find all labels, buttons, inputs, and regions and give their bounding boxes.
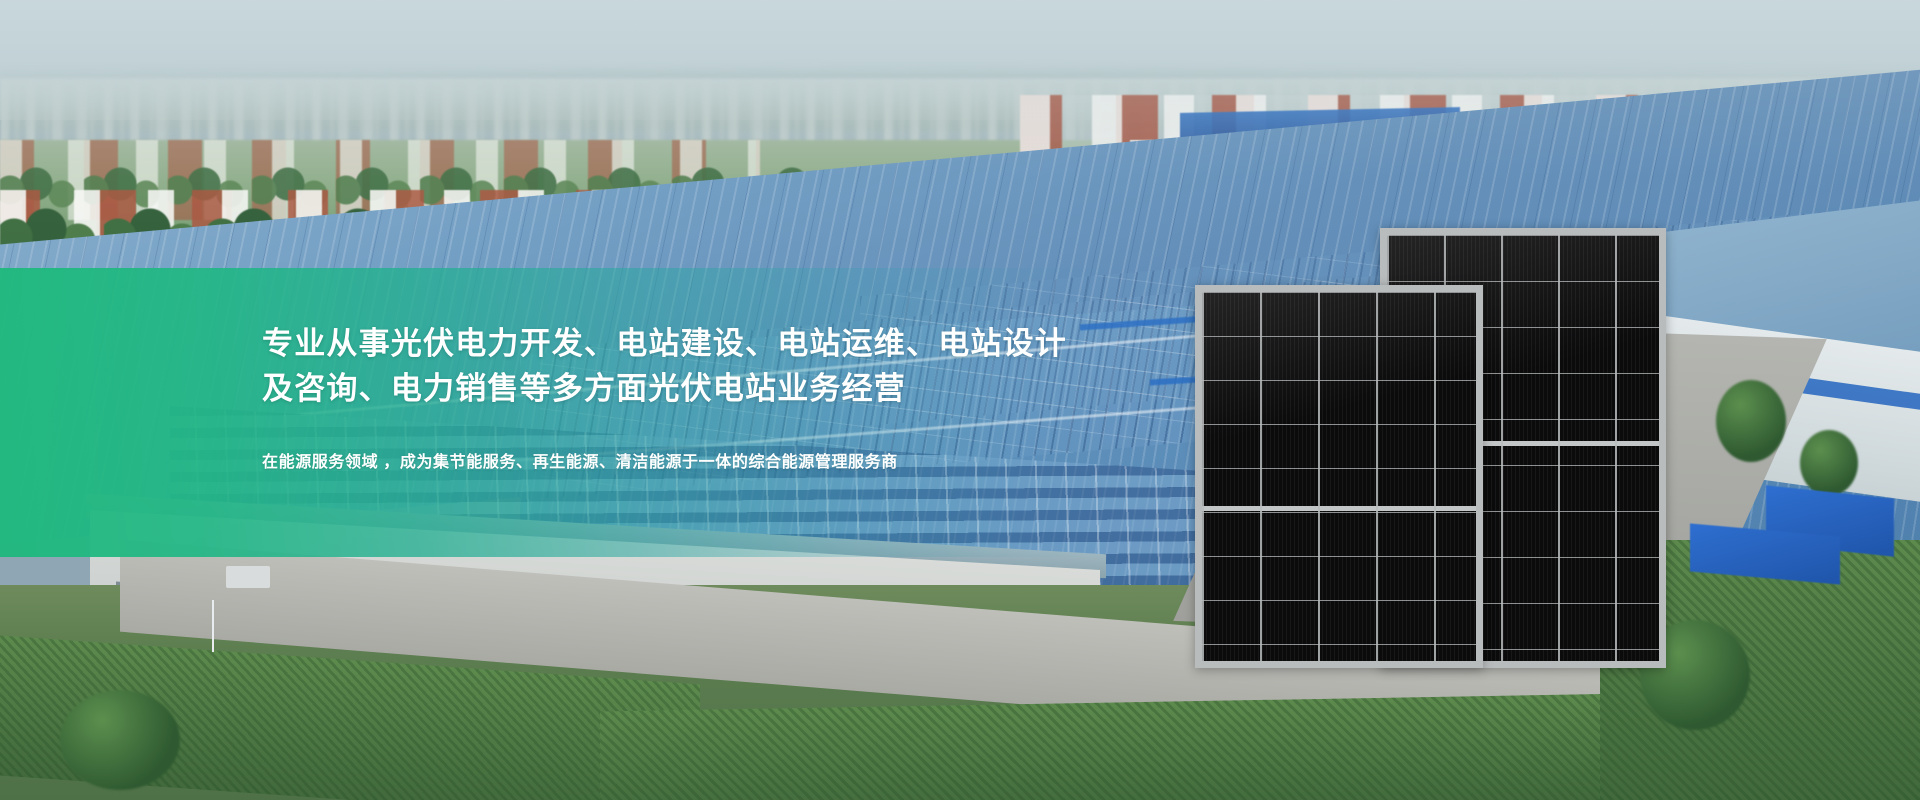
green-text-overlay: 专业从事光伏电力开发、电站建设、电站运维、电站设计 及咨询、电力销售等多方面光伏… [0,268,1112,557]
street-lamp-3 [212,600,214,652]
solar-module-front-glass [1202,292,1476,661]
overlay-text-block: 专业从事光伏电力开发、电站建设、电站运维、电站设计 及咨询、电力销售等多方面光伏… [262,268,1102,557]
hero-banner: 专业从事光伏电力开发、电站建设、电站运维、电站设计 及咨询、电力销售等多方面光伏… [0,0,1920,800]
banner-subline: 在能源服务领域 ，成为集节能服务、再生能源、清洁能源于一体的综合能源管理服务商 [262,450,1092,476]
solar-module-front-image [1195,285,1483,668]
solar-module-front-busbar [1202,506,1476,511]
solar-module-front-sheen [1202,292,1476,661]
vehicle-white-van [226,566,270,588]
tree-right-2 [1800,430,1858,496]
tree-right-1 [1716,380,1786,462]
tree-bottom-2 [60,690,180,790]
banner-headline: 专业从事光伏电力开发、电站建设、电站运维、电站设计 及咨询、电力销售等多方面光伏… [262,321,1092,411]
